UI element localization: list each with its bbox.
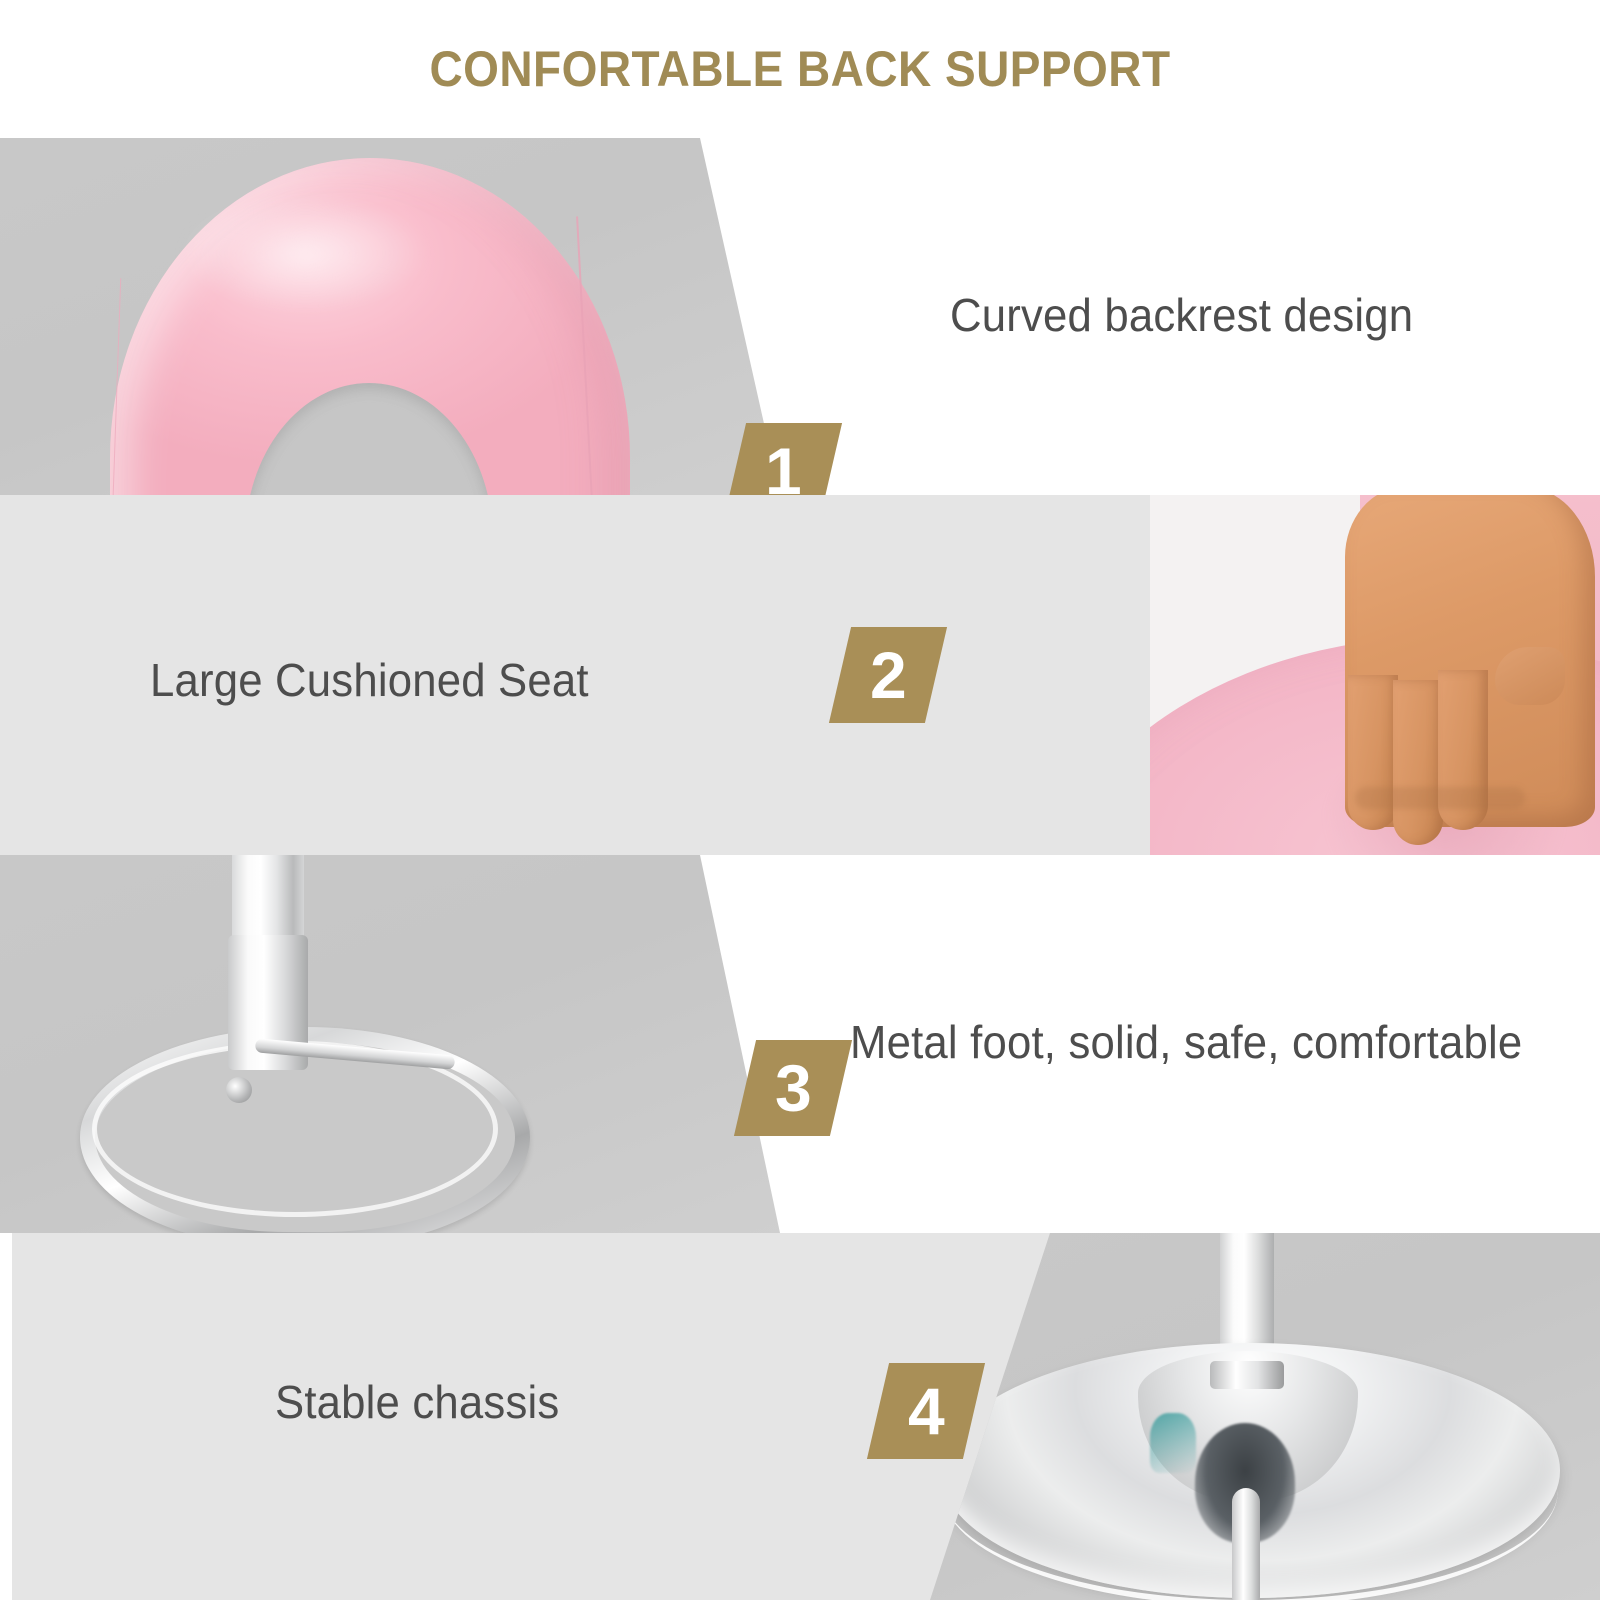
finger-2 — [1393, 680, 1443, 845]
feature-badge-2-number: 2 — [870, 642, 907, 708]
feature-row-2: Large Cushioned Seat 2 — [0, 495, 1600, 855]
footrest-bolt — [226, 1077, 252, 1103]
feature-badge-3-number: 3 — [775, 1055, 812, 1121]
feature-badge-3: 3 — [734, 1040, 852, 1136]
feature-2-image-cushioned-seat — [1150, 495, 1600, 855]
seat-photo-illustration — [1150, 495, 1600, 855]
base-teal-reflection — [1150, 1413, 1196, 1473]
feature-badge-2: 2 — [829, 627, 947, 723]
finger-crease — [1355, 787, 1525, 809]
thumb — [1495, 647, 1565, 705]
feature-badge-1-number: 1 — [765, 438, 802, 495]
feature-row-1: 1 Curved backrest design — [0, 138, 1600, 495]
footrest-illustration — [0, 855, 800, 1233]
page-title: CONFORTABLE BACK SUPPORT — [64, 40, 1536, 98]
feature-caption-4: Stable chassis — [275, 1375, 559, 1429]
pink-backrest-illustration — [110, 158, 630, 495]
pole-ring-band — [1210, 1361, 1284, 1389]
infographic-page: CONFORTABLE BACK SUPPORT 1 Curved backre… — [0, 0, 1600, 1600]
feature-3-image-metal-footrest — [0, 855, 800, 1233]
feature-caption-2: Large Cushioned Seat — [150, 653, 589, 707]
base-stem-reflection — [1232, 1488, 1260, 1600]
feature-caption-1: Curved backrest design — [950, 288, 1413, 342]
feature-row-3: 3 Metal foot, solid, safe, comfortable — [0, 855, 1600, 1233]
feature-row-4: Stable chassis 4 — [0, 1233, 1600, 1600]
feature-caption-3: Metal foot, solid, safe, comfortable — [850, 1015, 1522, 1069]
backrest-highlight — [180, 193, 430, 313]
feature-1-image-curved-backrest — [0, 138, 800, 495]
feature-badge-4-number: 4 — [908, 1378, 945, 1444]
